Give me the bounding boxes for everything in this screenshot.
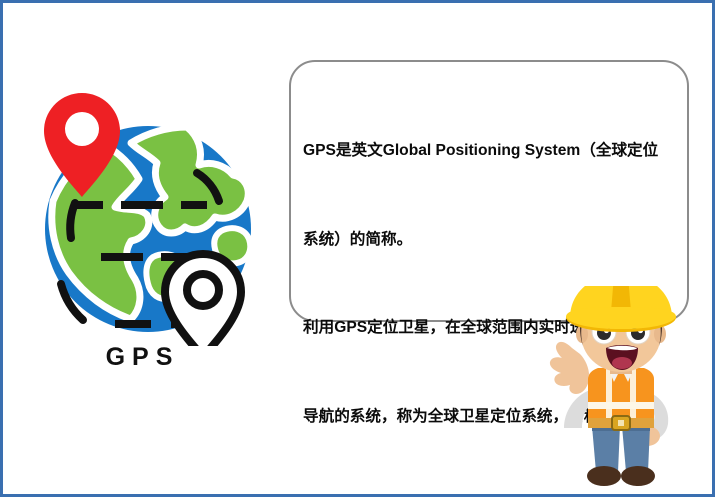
worker-legs xyxy=(592,426,650,472)
construction-worker-character xyxy=(530,286,705,491)
gps-globe-graphic xyxy=(35,81,275,346)
slide-canvas: GPS GPS是英文Global Positioning System（全球定位… xyxy=(0,0,715,497)
worker-graphic xyxy=(530,286,705,491)
outlined-location-pin xyxy=(165,254,241,346)
bubble-line: 系统）的简称。 xyxy=(303,225,683,255)
gps-caption-label: GPS xyxy=(35,343,250,372)
worker-shoes xyxy=(587,466,655,486)
bubble-line: GPS是一种具有全方位、全天候、全时段、高精度 xyxy=(303,490,683,497)
worker-belt xyxy=(588,416,654,430)
worker-hard-hat xyxy=(566,286,676,332)
gps-illustration: GPS xyxy=(35,81,275,391)
bubble-line: GPS是英文Global Positioning System（全球定位 xyxy=(303,136,683,166)
